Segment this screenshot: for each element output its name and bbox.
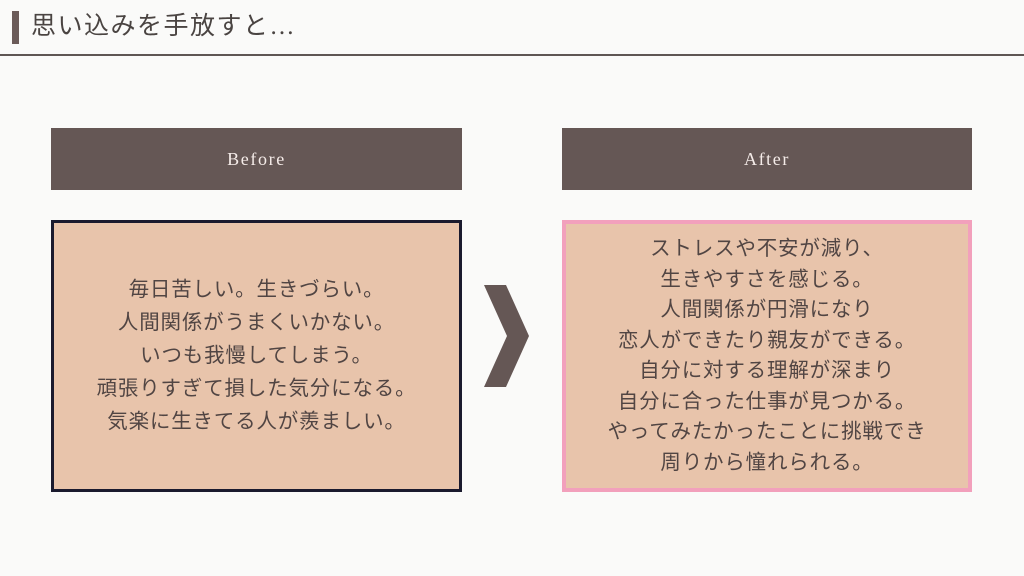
- column-body-before: 毎日苦しい。生きづらい。 人間関係がうまくいかない。 いつも我慢してしまう。 頑…: [51, 220, 462, 492]
- column-after: After ストレスや不安が減り、 生きやすさを感じる。 人間関係が円滑になり …: [562, 128, 972, 190]
- column-body-text-after: ストレスや不安が減り、 生きやすさを感じる。 人間関係が円滑になり 恋人ができた…: [602, 234, 933, 478]
- column-header-before: Before: [51, 128, 462, 190]
- column-body-text-before: 毎日苦しい。生きづらい。 人間関係がうまくいかない。 いつも我慢してしまう。 頑…: [91, 274, 423, 439]
- column-body-after: ストレスや不安が減り、 生きやすさを感じる。 人間関係が円滑になり 恋人ができた…: [562, 220, 972, 492]
- column-header-label-before: Before: [227, 149, 286, 170]
- column-header-after: After: [562, 128, 972, 190]
- column-before: Before 毎日苦しい。生きづらい。 人間関係がうまくいかない。 いつも我慢し…: [51, 128, 462, 190]
- chevron-right-icon: [482, 285, 530, 387]
- column-header-label-after: After: [744, 149, 790, 170]
- comparison-columns: Before 毎日苦しい。生きづらい。 人間関係がうまくいかない。 いつも我慢し…: [0, 0, 1024, 576]
